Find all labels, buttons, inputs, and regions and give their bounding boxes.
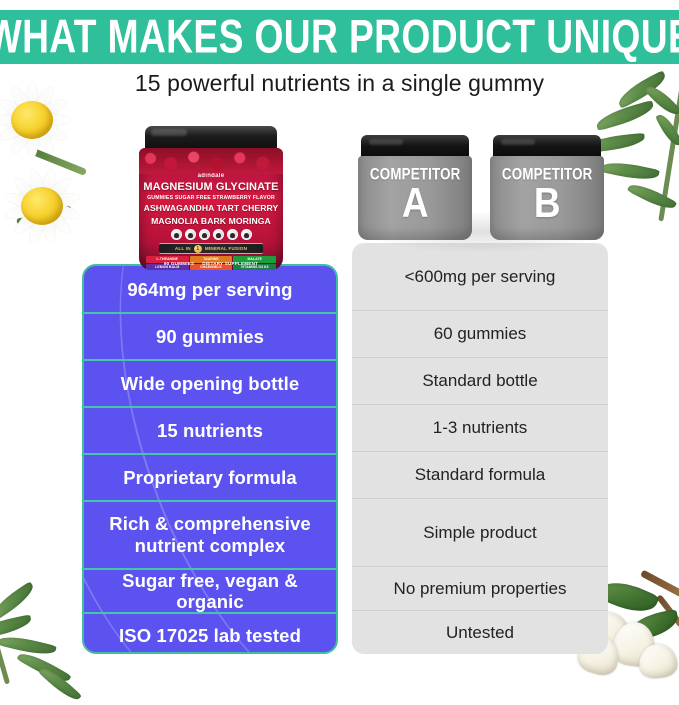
product-feature-row: 964mg per serving	[84, 266, 336, 314]
header-banner: WHAT MAKES OUR PRODUCT UNIQUE	[0, 10, 679, 64]
certification-badge-icon	[213, 229, 224, 240]
competitor-jar-b: COMPETITOR B	[490, 135, 604, 249]
product-feature-row: 90 gummies	[84, 314, 336, 361]
brand-logo: adindale	[143, 173, 279, 179]
certification-badge-icon	[227, 229, 238, 240]
mineral-fusion-banner: ALL IN 1 MINERAL FUSION	[159, 243, 263, 254]
product-feature-label: Rich & comprehensive nutrient complex	[90, 513, 330, 557]
product-feature-label: Proprietary formula	[123, 467, 297, 488]
supplement-label: DIETARY SUPPLEMENT	[202, 261, 258, 266]
product-feature-label: 90 gummies	[156, 326, 264, 347]
daisy-stem	[29, 147, 87, 176]
product-feature-row: Proprietary formula	[84, 455, 336, 502]
competitor-feature-label: Untested	[446, 623, 514, 643]
competitor-feature-label: 1-3 nutrients	[433, 418, 528, 438]
product-feature-row: ISO 17025 lab tested	[84, 614, 336, 654]
certification-badge-icon	[171, 229, 182, 240]
product-feature-row: Sugar free, vegan & organic	[84, 570, 336, 614]
jar-body: COMPETITOR A	[358, 156, 472, 240]
jar-body: COMPETITOR B	[490, 156, 604, 240]
competitor-feature-row: No premium properties	[352, 567, 608, 611]
competitor-jars: COMPETITOR A COMPETITOR B	[358, 135, 606, 253]
fusion-left-text: ALL IN	[175, 246, 191, 251]
certification-badge-icon	[241, 229, 252, 240]
competitor-feature-label: Simple product	[423, 523, 536, 543]
jar-label-letter: A	[402, 182, 429, 224]
jar-label-letter: B	[534, 182, 561, 224]
product-subtitle: GUMMIES SUGAR FREE STRAWBERRY FLAVOR	[143, 195, 279, 201]
fusion-number-icon: 1	[194, 245, 202, 253]
competitor-feature-label: Standard bottle	[422, 371, 537, 391]
competitor-feature-label: No premium properties	[394, 579, 567, 599]
product-feature-panel: 964mg per serving90 gummiesWide opening …	[82, 264, 338, 654]
competitor-feature-row: <600mg per serving	[352, 243, 608, 311]
bottle-body: adindale MAGNESIUM GLYCINATE GUMMIES SUG…	[139, 148, 283, 270]
competitor-feature-row: Standard formula	[352, 452, 608, 499]
page-title: WHAT MAKES OUR PRODUCT UNIQUE	[0, 13, 679, 60]
gummy-count: 90 GUMMIES	[164, 261, 194, 266]
bottle-footer: 90 GUMMIES DIETARY SUPPLEMENT	[143, 261, 279, 266]
certification-badge-icon	[199, 229, 210, 240]
product-feature-label: 15 nutrients	[157, 420, 263, 441]
gummies-visible-icon	[139, 148, 283, 174]
certification-badges	[143, 229, 279, 240]
competitor-feature-row: Simple product	[352, 499, 608, 567]
competitor-feature-label: <600mg per serving	[405, 267, 556, 287]
competitor-feature-row: 1-3 nutrients	[352, 405, 608, 452]
infographic-canvas: WHAT MAKES OUR PRODUCT UNIQUE 15 powerfu…	[0, 0, 679, 678]
product-bottle: adindale MAGNESIUM GLYCINATE GUMMIES SUG…	[137, 126, 285, 270]
product-feature-row: Rich & comprehensive nutrient complex	[84, 502, 336, 570]
bottle-label: adindale MAGNESIUM GLYCINATE GUMMIES SUG…	[143, 172, 279, 268]
competitor-feature-row: Untested	[352, 611, 608, 654]
product-title: MAGNESIUM GLYCINATE	[143, 181, 279, 193]
competitor-feature-panel: <600mg per serving60 gummiesStandard bot…	[352, 243, 608, 654]
product-feature-label: 964mg per serving	[127, 279, 292, 300]
daisy-stem	[16, 205, 72, 224]
product-herbs-line-1: ASHWAGANDHA TART CHERRY	[143, 204, 279, 214]
product-herbs-line-2: MAGNOLIA BARK MORINGA	[143, 217, 279, 227]
competitor-feature-label: Standard formula	[415, 465, 545, 485]
competitor-feature-label: 60 gummies	[434, 324, 527, 344]
product-feature-row: Wide opening bottle	[84, 361, 336, 408]
fusion-right-text: MINERAL FUSION	[205, 246, 247, 251]
competitor-feature-row: 60 gummies	[352, 311, 608, 358]
competitor-jar-a: COMPETITOR A	[358, 135, 472, 249]
product-feature-label: ISO 17025 lab tested	[119, 625, 301, 646]
page-subtitle: 15 powerful nutrients in a single gummy	[0, 70, 679, 97]
product-feature-label: Wide opening bottle	[121, 373, 300, 394]
certification-badge-icon	[185, 229, 196, 240]
product-feature-label: Sugar free, vegan & organic	[90, 570, 330, 612]
competitor-feature-row: Standard bottle	[352, 358, 608, 405]
product-feature-row: 15 nutrients	[84, 408, 336, 455]
